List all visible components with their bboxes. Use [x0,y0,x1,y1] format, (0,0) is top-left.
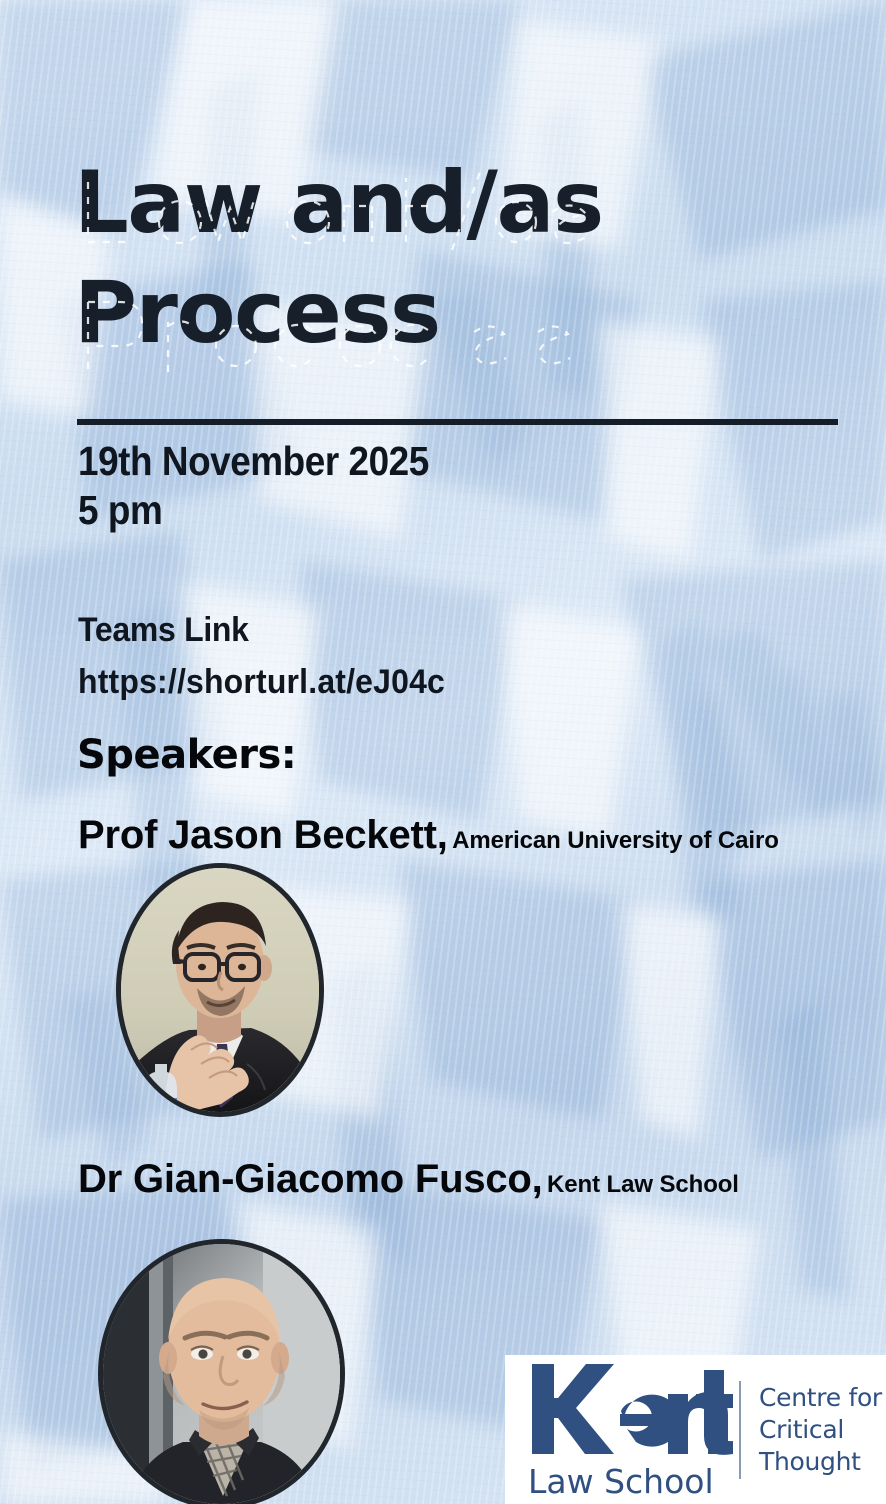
event-time: 5 pm [78,486,429,535]
speaker-2-portrait [103,1244,340,1504]
teams-link-label: Teams Link [78,604,445,656]
page-title: Law and/as Process [74,148,814,368]
centre-line-1: Centre for [759,1382,882,1414]
speaker-2-affiliation: Kent Law School [547,1171,739,1198]
event-date: 19th November 2025 [78,437,429,486]
event-datetime: 19th November 2025 5 pm [78,437,429,535]
speaker-1-portrait [121,868,319,1112]
logo-divider [739,1381,741,1479]
svg-text:Law School: Law School [528,1462,714,1501]
centre-line-2: Critical [759,1414,882,1446]
title-line-2: Process [74,258,814,368]
divider-rule [77,419,838,425]
event-poster: Law and/as Process 19th Novem [0,0,886,1504]
law-school-wordmark: Law School [528,1462,733,1502]
speakers-heading: Speakers: [77,731,296,779]
speaker-1-name: Prof Jason Beckett, [78,813,448,857]
kent-law-school-logo: Law School Centre for Critical Thought [505,1355,886,1504]
title-line-1: Law and/as [74,148,814,258]
logo-wordmark: Law School [528,1358,733,1502]
teams-link-url[interactable]: https://shorturl.at/eJ04c [78,656,445,708]
teams-link-block: Teams Link https://shorturl.at/eJ04c [78,604,445,708]
speaker-1-line: Prof Jason Beckett, American University … [78,813,779,858]
speaker-1-affiliation: American University of Cairo [452,827,779,854]
kent-logo-icon [528,1358,733,1466]
centre-for-critical-thought-label: Centre for Critical Thought [759,1382,882,1478]
centre-line-3: Thought [759,1446,882,1478]
speaker-2-name: Dr Gian-Giacomo Fusco, [78,1157,543,1201]
speaker-2-line: Dr Gian-Giacomo Fusco, Kent Law School [78,1157,739,1202]
